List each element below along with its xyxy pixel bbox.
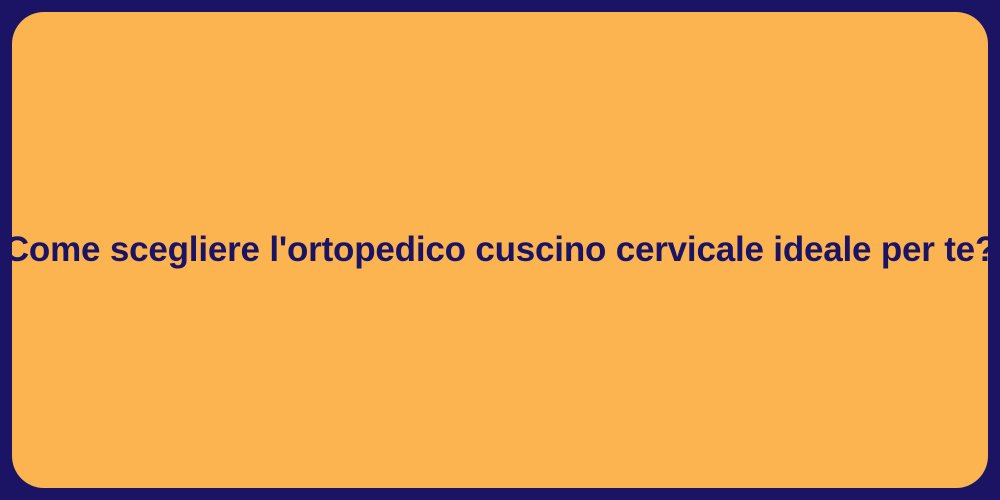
page-title: Come scegliere l'ortopedico cuscino cerv… [12, 228, 988, 272]
banner-frame: Come scegliere l'ortopedico cuscino cerv… [0, 0, 1000, 500]
banner-card: Come scegliere l'ortopedico cuscino cerv… [12, 12, 988, 488]
